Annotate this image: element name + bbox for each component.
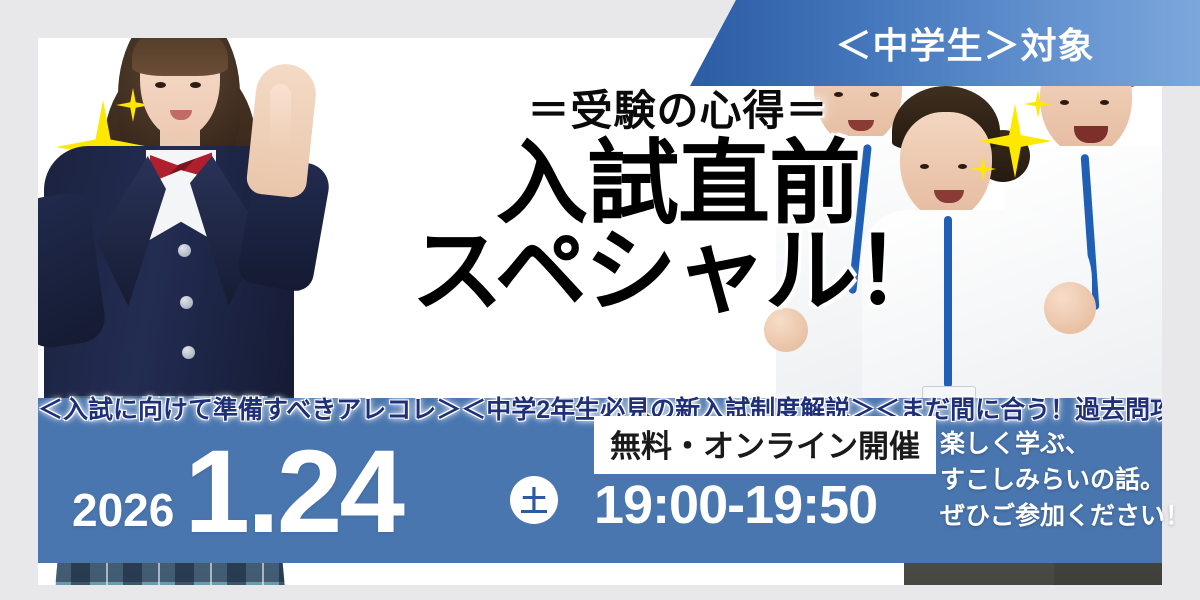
girl-lapel-left: [96, 156, 166, 306]
girl-blazer-button: [178, 244, 191, 257]
girl-shirt: [146, 150, 216, 242]
event-date: 2026 1.24: [72, 444, 402, 541]
girl-blazer: [44, 146, 294, 408]
girl-face: [140, 38, 220, 138]
man-right-smile: [1074, 126, 1108, 143]
eyebrow-text: ＝受験の心得＝: [368, 90, 988, 132]
tagline-line-1: 楽しく学ぶ、: [940, 426, 1190, 462]
sparkle-icon: [56, 100, 150, 194]
page-title: 入試直前 スペシャル！: [368, 140, 988, 317]
title-line-1: 入試直前: [496, 133, 860, 235]
girl-pointing-finger: [270, 84, 291, 152]
girl-forearm: [245, 61, 318, 199]
tagline: 楽しく学ぶ、 すこしみらいの話。 ぜひご参加ください！: [940, 426, 1190, 534]
girl-hair-back: [104, 54, 256, 234]
man-right-eye: [1100, 100, 1109, 105]
format-badge: 無料・オンライン開催: [594, 416, 936, 474]
girl-neck: [160, 128, 200, 162]
event-banner: ＝受験の心得＝ 入試直前 スペシャル！ ＜入試に向けて準備すべきアレコレ＞＜中学…: [0, 0, 1200, 600]
day-of-week-badge: 土: [510, 476, 558, 524]
event-year: 2026: [72, 487, 174, 541]
girl-lapel-right: [190, 156, 264, 306]
title-line-2: スペシャル！: [368, 228, 988, 316]
man-right-head: [1040, 50, 1132, 156]
woman-fist: [1044, 282, 1096, 334]
girl-eye-left: [155, 82, 166, 88]
sparkle-icon: [1024, 90, 1052, 118]
sparkle-icon: [116, 88, 150, 122]
girl-blazer-button: [182, 346, 195, 359]
girl-hair: [118, 38, 240, 174]
sparkle-icon: [52, 160, 82, 190]
girl-eye-right: [190, 82, 201, 88]
man-right-lanyard: [1081, 154, 1100, 310]
girl-bangs: [132, 38, 228, 76]
man-left-hair: [806, 38, 910, 80]
tagline-line-2: すこしみらいの話。: [940, 462, 1190, 498]
girl-necktie-ribbon: [150, 150, 212, 192]
man-right-eye: [1060, 100, 1069, 105]
sparkle-icon: [978, 104, 1052, 178]
event-time: 19:00-19:50: [594, 474, 877, 536]
girl-raised-sleeve: [235, 154, 332, 293]
event-month-day: 1.24: [184, 444, 402, 541]
girl-blazer-button: [180, 296, 193, 309]
man-right-hair: [1032, 38, 1144, 88]
tagline-line-3: ぜひご参加ください！: [940, 498, 1190, 534]
girl-mouth: [170, 110, 192, 120]
event-info: 2026 1.24 土 無料・オンライン開催 19:00-19:50 楽しく学ぶ…: [38, 398, 1200, 563]
headline-block: ＝受験の心得＝ 入試直前 スペシャル！: [368, 90, 988, 317]
girl-arm-on-hip: [38, 191, 108, 351]
